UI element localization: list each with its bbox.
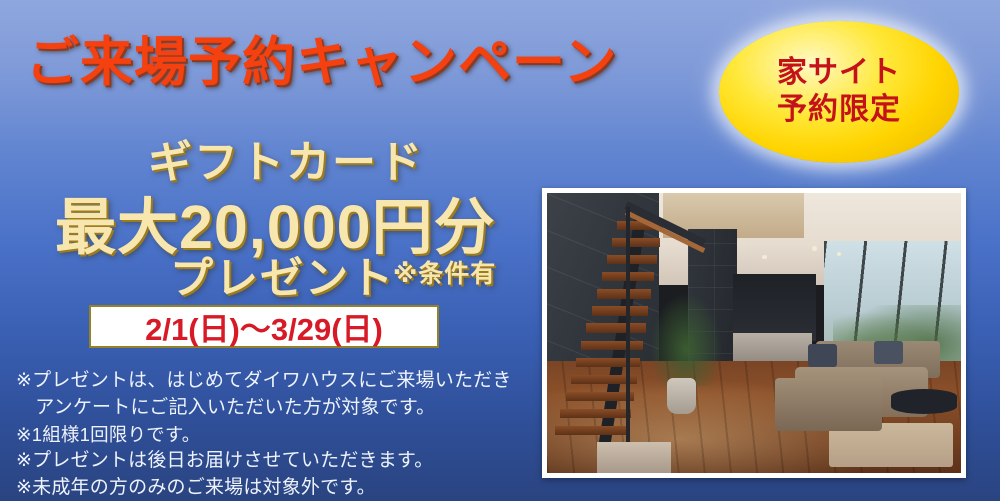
- disclaimer-line: ※1組様1回限りです。: [16, 422, 536, 448]
- disclaimer-line: ※プレゼントは後日お届けさせていただきます。: [16, 448, 536, 475]
- photo-stair-tread: [607, 255, 657, 264]
- photo-downlight: [812, 246, 817, 250]
- campaign-period-text: 2/1(日)～3/29(日): [145, 304, 383, 349]
- disclaimer-line: ※プレゼントは、はじめてダイワハウスにご来場いただき: [16, 368, 536, 395]
- photo-coffee-table: [891, 389, 957, 414]
- photo-cushion: [874, 341, 903, 363]
- campaign-period-badge: 2/1(日)～3/29(日): [89, 305, 439, 348]
- photo-step-base: [597, 442, 672, 473]
- photo-plant-leaves: [651, 294, 721, 386]
- photo-stair-tread: [586, 323, 645, 332]
- photo-cushion: [808, 344, 837, 366]
- photo-stair-tread: [581, 341, 642, 350]
- disclaimer-line: ※未成年の方のみのご来場は対象外です。: [16, 475, 536, 501]
- oval-badge-line-2: 予約限定: [777, 92, 901, 129]
- status-badge: 家サイト 予約限定: [719, 21, 959, 163]
- photo-stair-tread: [566, 392, 634, 401]
- offer-line-present: プレゼント: [170, 244, 395, 306]
- photo-downlight: [762, 255, 767, 259]
- disclaimer-line: アンケートにご記入いただいた方が対象です。: [16, 395, 536, 422]
- interior-photo-frame: [542, 188, 966, 478]
- page-title: ご来場予約キャンペーン: [26, 20, 617, 96]
- photo-stair-tread: [592, 306, 649, 315]
- oval-badge-line-1: 家サイト: [777, 55, 901, 92]
- campaign-banner: ご来場予約キャンペーン 家サイト 予約限定 ギフトカード 最大20,000円分 …: [0, 0, 1000, 501]
- photo-plant-pot: [667, 378, 696, 414]
- photo-stair-tread: [560, 409, 631, 418]
- disclaimer-list: ※プレゼントは、はじめてダイワハウスにご来場いただき アンケートにご記入いただい…: [16, 368, 536, 501]
- photo-stair-tread: [555, 426, 628, 435]
- interior-photo: [547, 193, 961, 473]
- photo-stair-tread: [612, 238, 660, 247]
- photo-stair-post: [626, 207, 631, 442]
- photo-kitchen: [733, 274, 816, 341]
- photo-stair-tread: [597, 289, 652, 298]
- offer-conditions-note: ※条件有: [393, 254, 496, 290]
- photo-sofa-chaise: [775, 378, 883, 431]
